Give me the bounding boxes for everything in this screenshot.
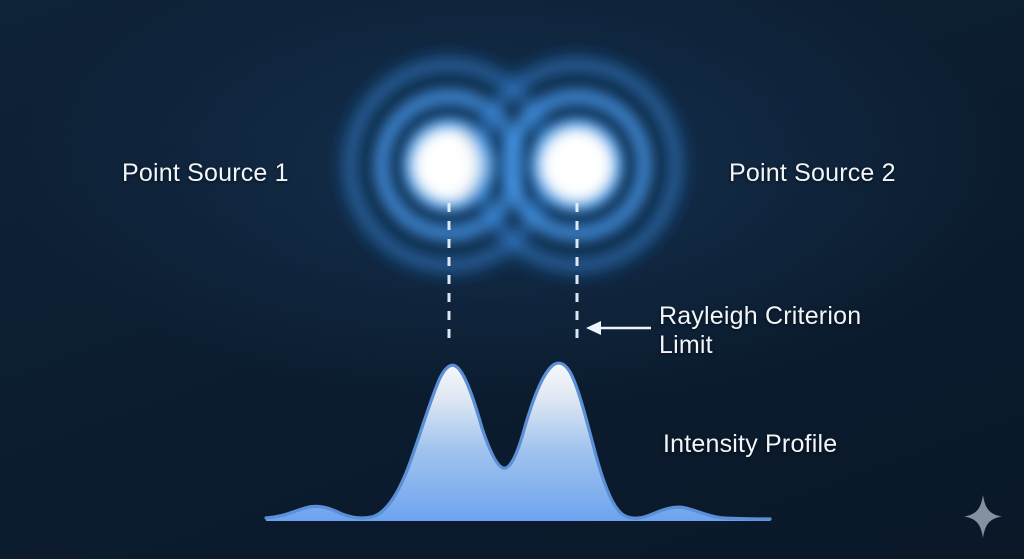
sparkle-icon xyxy=(963,494,1003,539)
label-point-source-2: Point Source 2 xyxy=(729,159,896,188)
arrow-left-icon xyxy=(586,321,651,335)
airy-diffraction-pattern xyxy=(0,0,1024,559)
airy-disk-source-1 xyxy=(323,37,575,293)
rayleigh-line-2: Limit xyxy=(659,331,713,359)
intensity-profile-chart xyxy=(0,0,1024,559)
label-point-source-1: Point Source 1 xyxy=(122,159,289,188)
airy-core-2 xyxy=(547,135,607,195)
rayleigh-line-1: Rayleigh Criterion xyxy=(659,302,861,330)
illustration-canvas: Point Source 1 Point Source 2 Rayleigh C… xyxy=(0,0,1024,559)
label-rayleigh-criterion-limit: Rayleigh CriterionLimit xyxy=(659,302,861,360)
label-intensity-profile: Intensity Profile xyxy=(663,430,837,459)
airy-disk-source-2 xyxy=(451,37,703,293)
airy-core-1 xyxy=(419,135,479,195)
